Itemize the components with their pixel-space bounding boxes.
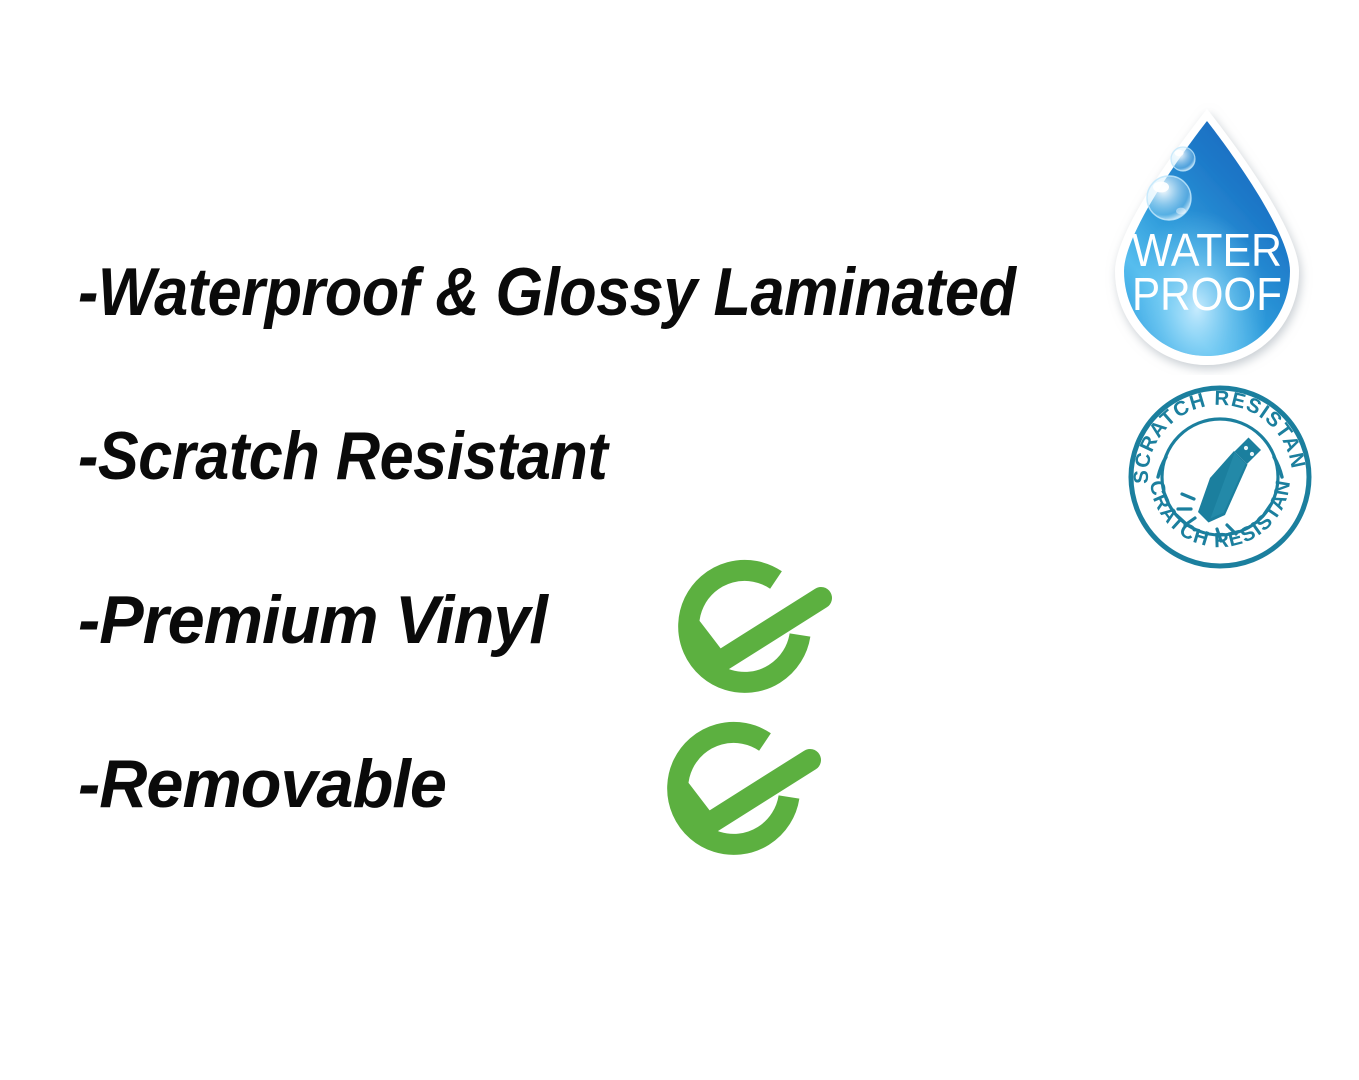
feature-graphic-canvas: -Waterproof & Glossy Laminated -Scratch … [0, 0, 1359, 1080]
check-mark-removable [634, 718, 834, 868]
feature-item-waterproof-glossy-laminated: -Waterproof & Glossy Laminated [78, 258, 1016, 326]
scratch-badge-text-top: SCRATCH RESISTANT [1124, 381, 1310, 484]
feature-item-removable: -Removable [78, 750, 446, 818]
feature-item-scratch-resistant: -Scratch Resistant [78, 422, 607, 490]
water-bubble-large-icon [1147, 176, 1191, 220]
knife-icon [1198, 438, 1261, 523]
water-bubble-icon [1171, 147, 1195, 171]
feature-item-premium-vinyl: -Premium Vinyl [78, 586, 547, 654]
waterproof-badge-line2: PROOF [1132, 268, 1282, 320]
waterproof-badge: WATER PROOF [1103, 103, 1315, 375]
check-mark-premium-vinyl [645, 556, 845, 706]
scratch-resistant-badge: SCRATCH RESISTANT SCRATCH RESISTANT [1124, 381, 1316, 573]
